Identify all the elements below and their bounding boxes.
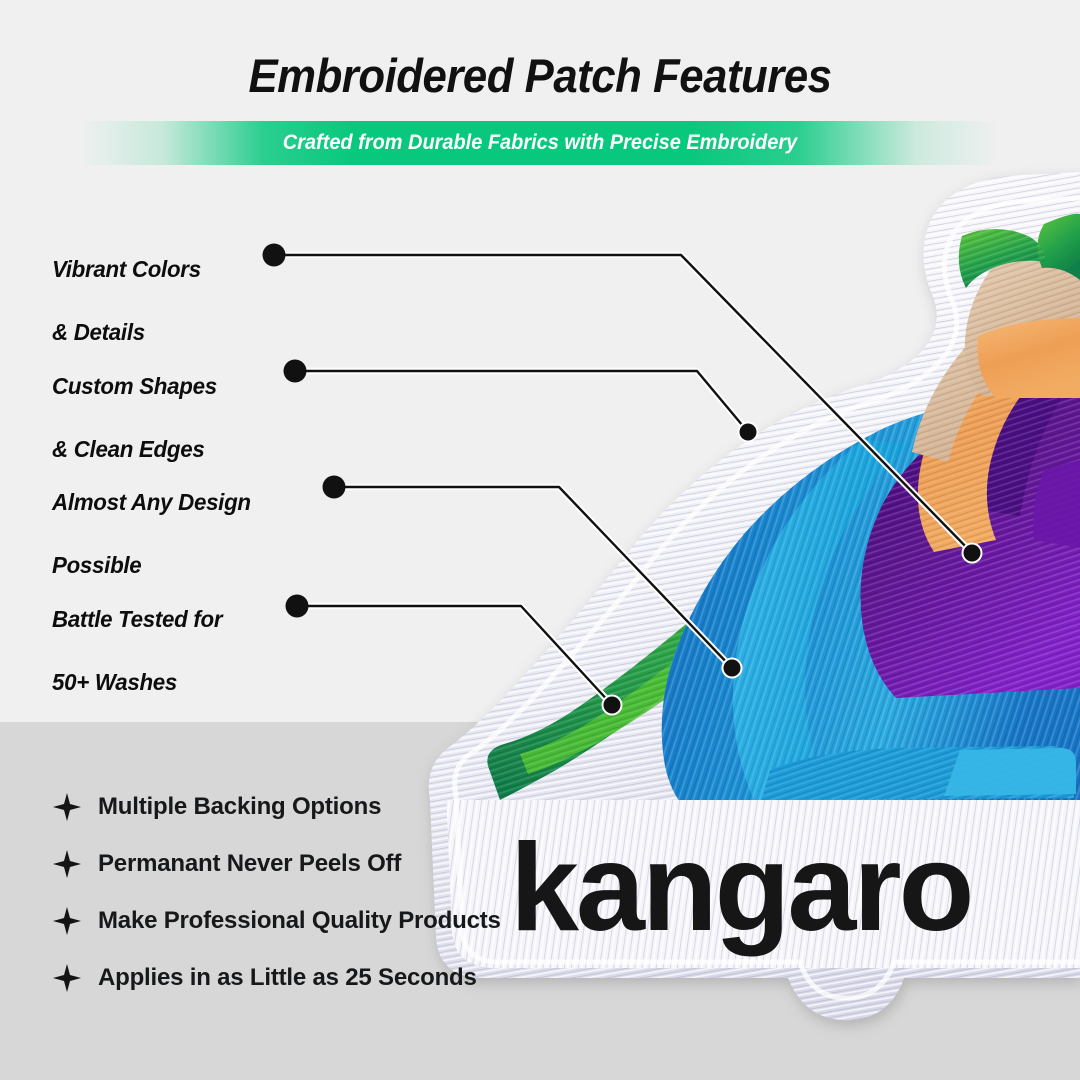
wordmark-text: kangaro	[510, 819, 971, 957]
callout-label-line1: Vibrant Colors	[52, 254, 201, 286]
bullet-text: Applies in as Little as 25 Seconds	[98, 964, 477, 992]
callout-label-line2: 50+ Washes	[52, 667, 222, 699]
sparkle-star-icon	[52, 906, 98, 936]
patch-body-group: kangaro	[429, 172, 1080, 1020]
foot-blue-light	[944, 748, 1076, 796]
sparkle-star-icon	[52, 792, 98, 822]
callout-label-battle-tested: Battle Tested for 50+ Washes	[52, 572, 222, 731]
patch-inner-artwork: kangaro	[440, 214, 1080, 968]
callout-label-line1: Almost Any Design	[52, 487, 251, 519]
sparkle-star-icon	[52, 849, 98, 879]
list-item: Applies in as Little as 25 Seconds	[52, 949, 501, 1006]
sparkle-star-icon	[52, 963, 98, 993]
callout-label-line1: Custom Shapes	[52, 371, 217, 403]
subtitle-text: Crafted from Durable Fabrics with Precis…	[27, 121, 1053, 165]
bullet-text: Permanant Never Peels Off	[98, 850, 401, 878]
list-item: Make Professional Quality Products	[52, 892, 501, 949]
feature-bullet-list: Multiple Backing Options Permanant Never…	[52, 778, 501, 1006]
subtitle-banner: Crafted from Durable Fabrics with Precis…	[0, 121, 1080, 165]
bullet-text: Make Professional Quality Products	[98, 907, 501, 935]
callout-label-line1: Battle Tested for	[52, 604, 222, 636]
header: Embroidered Patch Features Crafted from …	[0, 0, 1080, 165]
list-item: Permanant Never Peels Off	[52, 835, 501, 892]
bullet-text: Multiple Backing Options	[98, 793, 381, 821]
list-item: Multiple Backing Options	[52, 778, 501, 835]
page-title: Embroidered Patch Features	[38, 48, 1042, 103]
infographic-canvas: kangaro Embroidered Patch Features Craft…	[0, 0, 1080, 1080]
